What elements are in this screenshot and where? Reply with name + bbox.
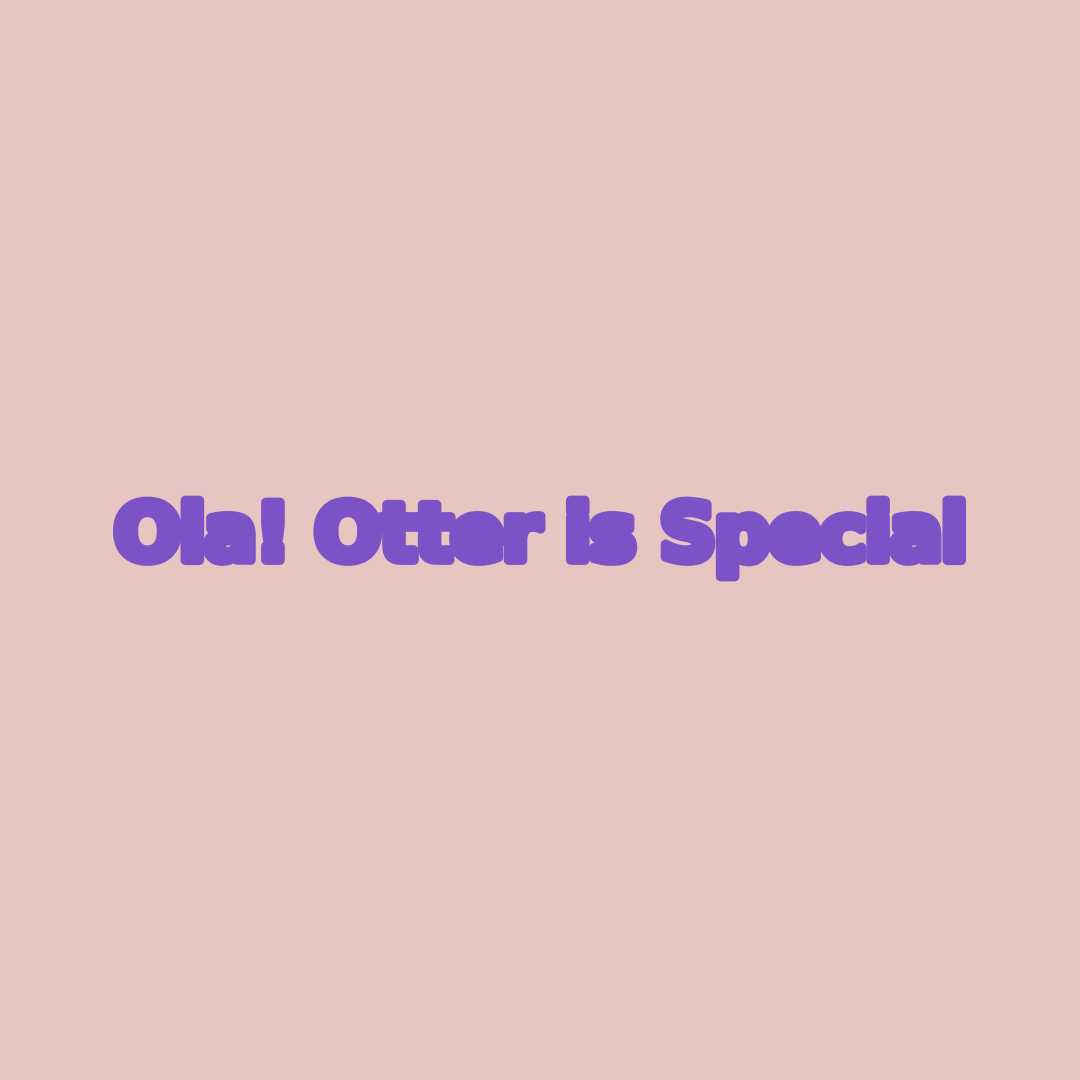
poster-canvas: Ola! Otter is Special Ola! Otter is Spec… (0, 0, 1080, 1080)
headline-container: Ola! Otter is Special Ola! Otter is Spec… (0, 0, 1080, 1080)
headline-graphic: Ola! Otter is Special (110, 483, 970, 583)
headline-text: Ola! Otter is Special (114, 487, 966, 579)
